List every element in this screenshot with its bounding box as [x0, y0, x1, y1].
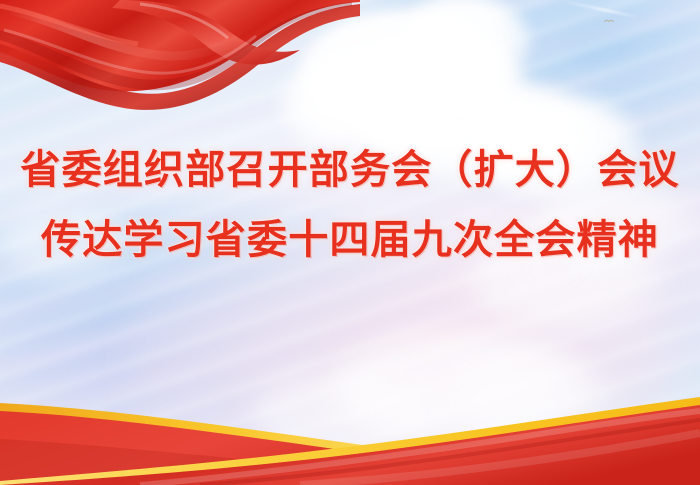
- bottom-red-wave: [0, 395, 700, 485]
- title-line-1: 省委组织部召开部务会（扩大）会议: [0, 150, 700, 190]
- top-red-ribbon: [0, 0, 360, 125]
- bird-icon: [604, 18, 613, 25]
- title-line-2: 传达学习省委十四届九次全会精神: [0, 220, 700, 260]
- poster-title: 省委组织部召开部务会（扩大）会议 传达学习省委十四届九次全会精神: [0, 150, 700, 260]
- poster-banner: 省委组织部召开部务会（扩大）会议 传达学习省委十四届九次全会精神: [0, 0, 700, 485]
